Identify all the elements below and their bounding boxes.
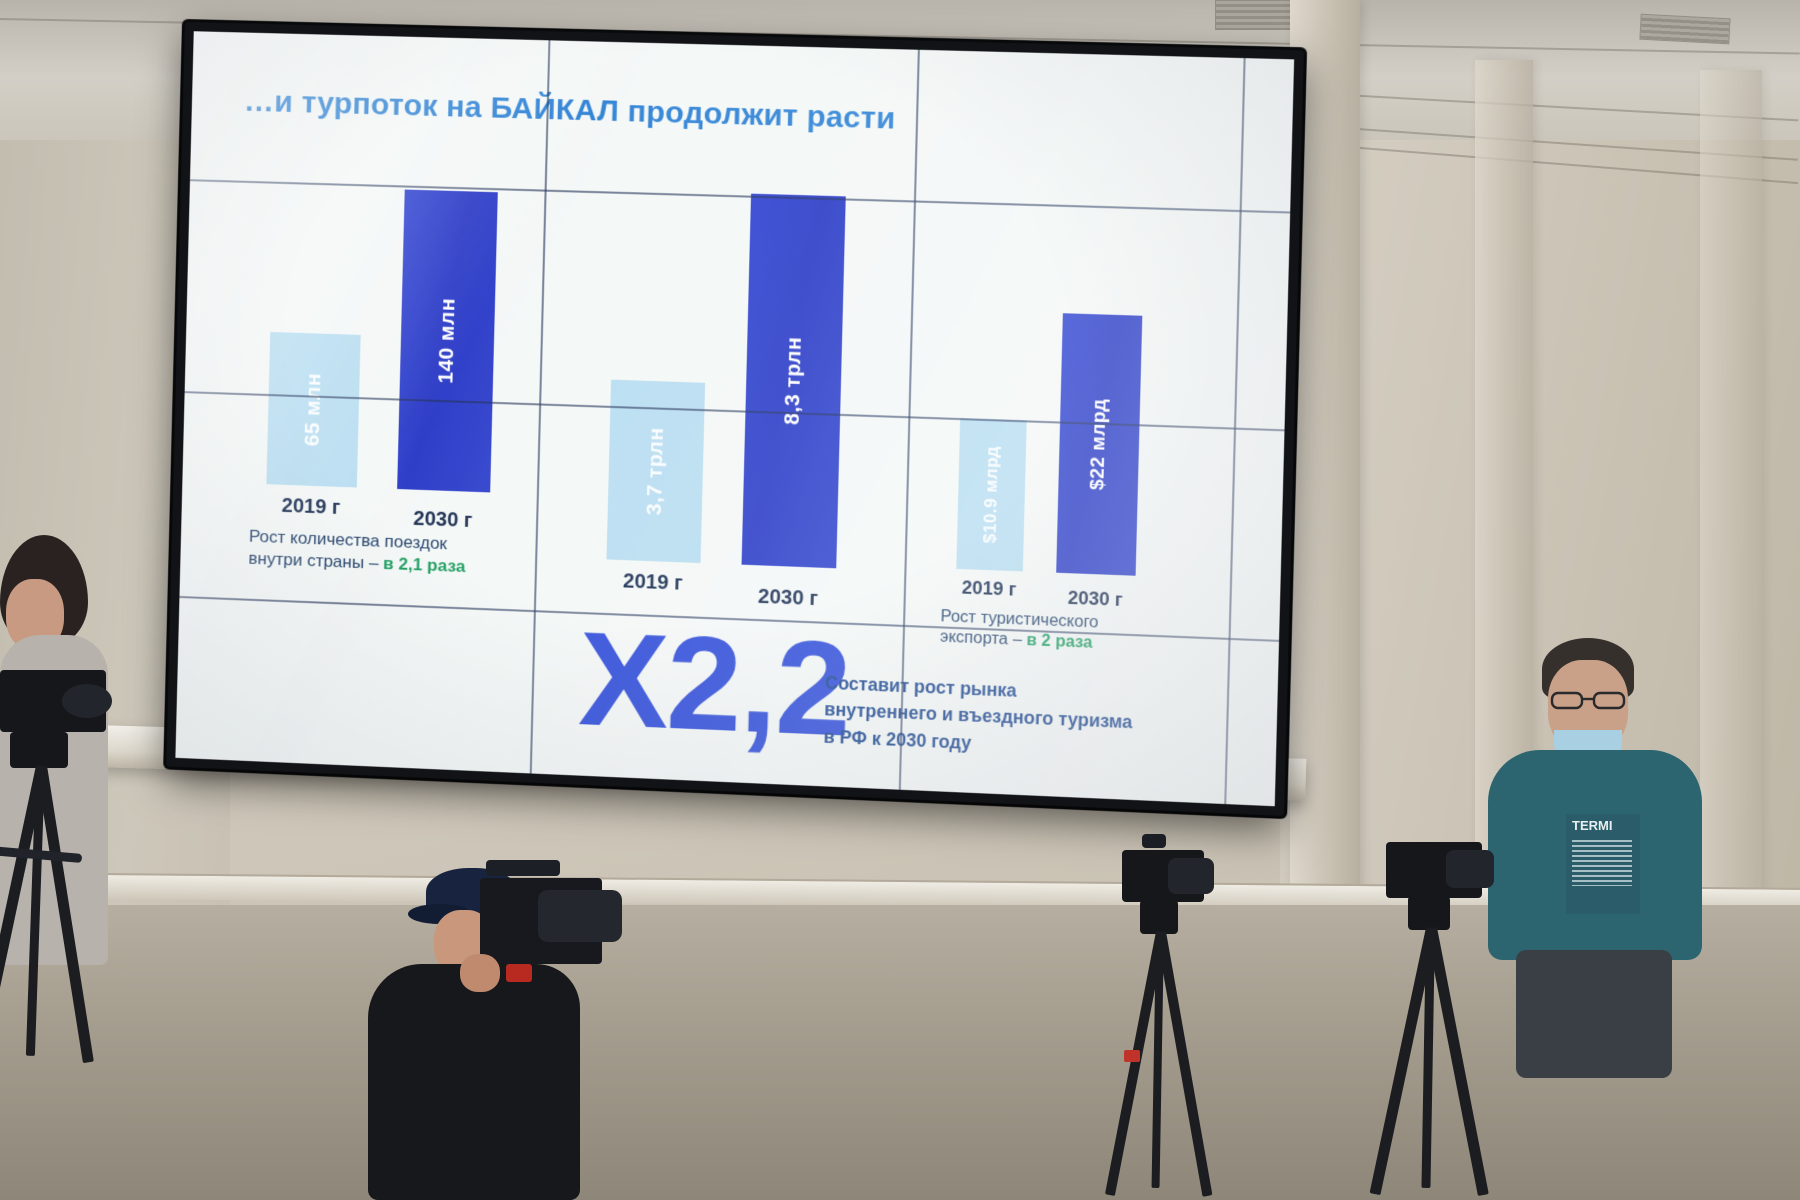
multiplier-note: Составит рост рынка внутреннего и въездн… xyxy=(823,670,1133,763)
bar-year-label: 2030 г xyxy=(396,507,490,534)
bar-group-market: 3,7 трлн 8,3 трлн 2019 г 2030 г xyxy=(581,185,889,601)
tripod-left xyxy=(0,670,150,1200)
bars-trips: 65 млн 140 млн xyxy=(244,183,544,494)
camera-lens-center-right xyxy=(1168,858,1214,894)
conference-hall-scene: …и турпоток на БАЙКАЛ продолжит расти 65… xyxy=(0,0,1800,1200)
bars-export: $10.9 млрд $22 млрд xyxy=(942,263,1242,580)
presentation-slide: …и турпоток на БАЙКАЛ продолжит расти 65… xyxy=(175,31,1294,806)
bar-trips-2019: 65 млн xyxy=(266,332,360,488)
camera-handle-center xyxy=(486,860,560,876)
bar-year-label: 2019 г xyxy=(947,577,1031,602)
camera-lens-center xyxy=(538,890,622,942)
tripod-leg xyxy=(1156,931,1212,1197)
camera-operator-center xyxy=(368,868,628,1200)
bar-year-label: 2019 г xyxy=(606,570,701,597)
caption-plain: экспорта – xyxy=(940,629,1027,650)
tripod-center-right xyxy=(1100,842,1260,1200)
tripod-right xyxy=(1372,836,1542,1200)
glasses-icon xyxy=(1550,690,1626,710)
tripod-head-center-right xyxy=(1140,900,1178,934)
bar-value-label: 65 млн xyxy=(301,373,327,447)
ceiling-vent xyxy=(1639,14,1730,45)
bar-year-label: 2030 г xyxy=(740,585,835,612)
slide-title: …и турпоток на БАЙКАЛ продолжит расти xyxy=(244,85,896,137)
caption-accent: в 2,1 раза xyxy=(383,554,466,576)
tripod-leg xyxy=(36,765,94,1063)
operator-hand xyxy=(460,954,500,992)
bar-year-label: 2030 г xyxy=(1047,587,1144,612)
bar-group-export: $10.9 млрд $22 млрд 2019 г 2030 г Рост т… xyxy=(941,263,1242,611)
tripod-head-left xyxy=(10,732,68,768)
bar-trips-2030: 140 млн xyxy=(397,190,498,493)
camera-lens-left xyxy=(62,684,112,718)
caption-plain: внутри страны – xyxy=(248,548,383,572)
camera-lens-right xyxy=(1446,850,1494,888)
caption-trips: Рост количества поездок внутри страны – … xyxy=(248,526,466,578)
operator-body xyxy=(368,964,580,1200)
bars-market: 3,7 трлн 8,3 трлн xyxy=(582,185,889,570)
tripod-head-right xyxy=(1408,896,1450,930)
camera-tally-light xyxy=(506,964,532,982)
tripod-tally-light xyxy=(1124,1050,1140,1062)
camera-flash-shoe xyxy=(1142,834,1166,848)
caption-accent: в 2 раза xyxy=(1026,632,1092,652)
display-surface: …и турпоток на БАЙКАЛ продолжит расти 65… xyxy=(175,31,1294,806)
bar-value-label: 140 млн xyxy=(434,298,460,385)
bar-export-2019: $10.9 млрд xyxy=(956,418,1026,571)
video-wall-display: …и турпоток на БАЙКАЛ продолжит расти 65… xyxy=(166,22,1304,816)
bar-year-label: 2019 г xyxy=(266,494,357,520)
multiplier-value: X2,2 xyxy=(577,617,850,751)
bar-group-trips: 65 млн 140 млн 2019 г 2030 г Рост количе… xyxy=(244,183,545,524)
tshirt-graphic: TERMI xyxy=(1566,814,1640,914)
bar-value-label: $22 млрд xyxy=(1087,398,1112,490)
tripod-leg xyxy=(1426,927,1489,1196)
bar-export-2030: $22 млрд xyxy=(1056,313,1142,576)
bar-value-label: 3,7 трлн xyxy=(642,427,669,516)
bar-value-label: $10.9 млрд xyxy=(980,446,1003,544)
bar-market-2030: 8,3 трлн xyxy=(742,194,846,569)
